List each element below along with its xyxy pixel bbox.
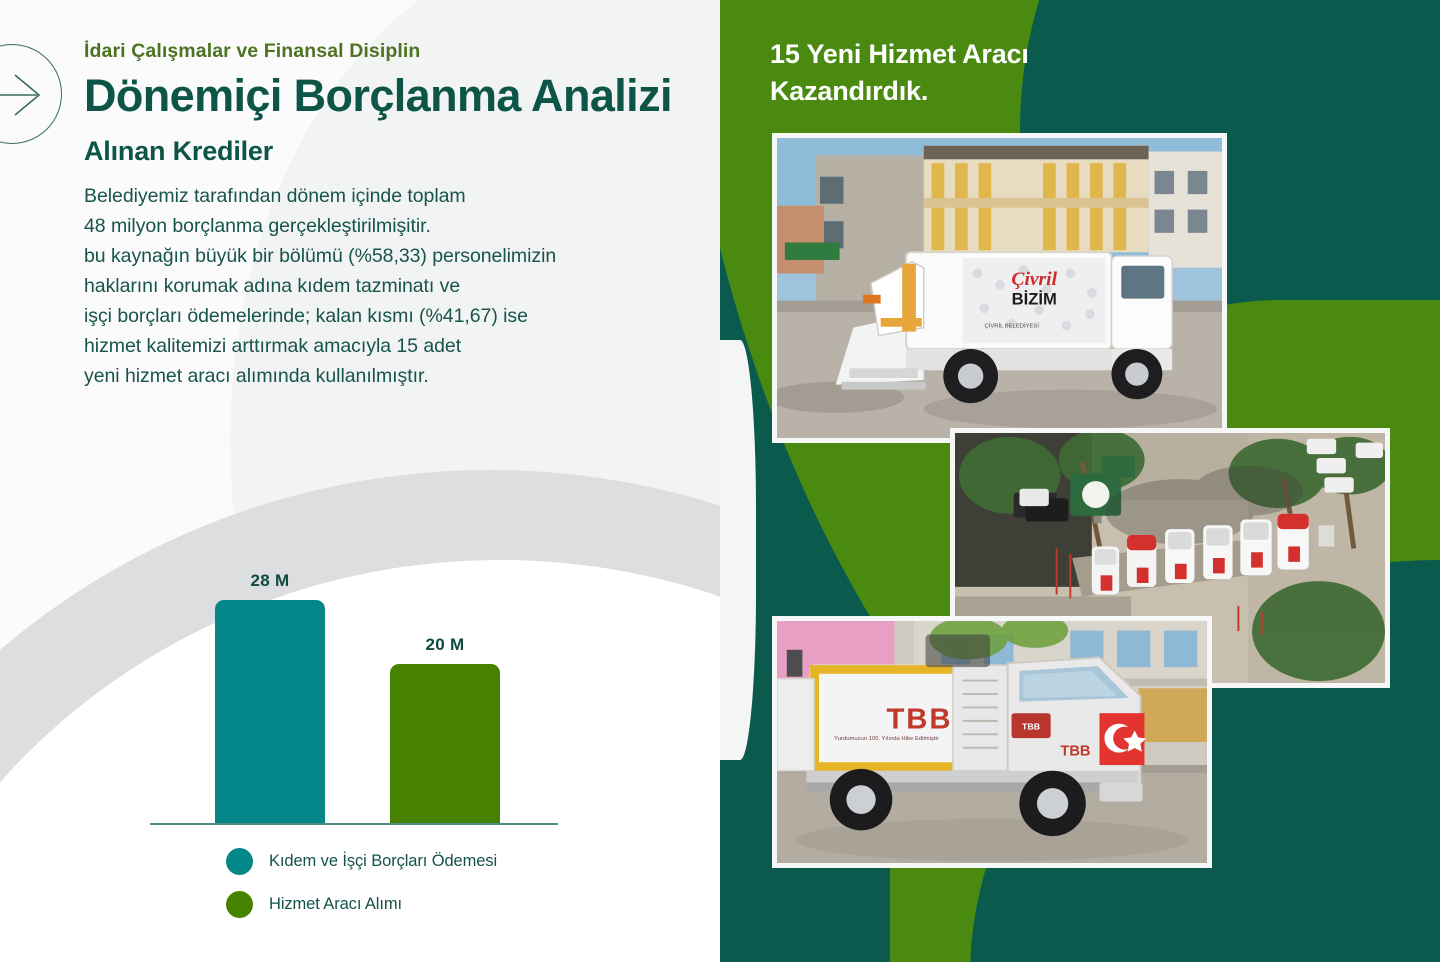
legend-item-2: Hizmet Aracı Alımı: [226, 891, 497, 918]
arrow-right-glyph: [0, 73, 45, 117]
svg-text:Çivril: Çivril: [1011, 269, 1057, 290]
bar-value-label: 28 M: [215, 571, 325, 591]
chart-plot-area: 28 M20 M: [150, 552, 570, 824]
chart-baseline-axis: [150, 823, 558, 825]
svg-text:ÇİVRİL BELEDİYESİ: ÇİVRİL BELEDİYESİ: [984, 323, 1039, 330]
legend-label: Hizmet Aracı Alımı: [269, 895, 402, 914]
left-text-block: İdari Çalışmalar ve Finansal Disiplin Dö…: [84, 40, 704, 391]
chart-legend: Kıdem ve İşçi Borçları ÖdemesiHizmet Ara…: [226, 848, 497, 934]
left-panel: İdari Çalışmalar ve Finansal Disiplin Dö…: [0, 0, 720, 962]
photo-truck-civril: Çivril BİZİM ÇİVRİL BELEDİYESİ: [772, 133, 1227, 443]
legend-item-1: Kıdem ve İşçi Borçları Ödemesi: [226, 848, 497, 875]
debt-bar-chart: 28 M20 M Kıdem ve İşçi Borçları ÖdemesiH…: [150, 552, 570, 842]
legend-label: Kıdem ve İşçi Borçları Ödemesi: [269, 852, 497, 871]
bar-2: [390, 664, 500, 824]
page-title: Dönemiçi Borçlanma Analizi: [84, 69, 704, 122]
legend-swatch: [226, 891, 253, 918]
svg-text:TBB: TBB: [1060, 744, 1090, 760]
svg-text:Yurdumuzun 100. Yılında Hibe E: Yurdumuzun 100. Yılında Hibe Edilmiştir: [834, 736, 939, 742]
photo-truck-civril-image: Çivril BİZİM ÇİVRİL BELEDİYESİ: [777, 138, 1222, 438]
photo-truck-tbb: TBB Yurdumuzun 100. Yılında Hibe Edilmiş…: [772, 616, 1212, 868]
bar-group-1: 28 M: [215, 552, 325, 824]
legend-swatch: [226, 848, 253, 875]
section-subtitle: Alınan Krediler: [84, 136, 704, 167]
bar-value-label: 20 M: [390, 635, 500, 655]
svg-text:TBB: TBB: [1022, 722, 1040, 732]
svg-text:TBB: TBB: [886, 704, 952, 736]
white-edge-accent: [720, 340, 756, 760]
bar-group-2: 20 M: [390, 552, 500, 824]
photo-truck-tbb-image: TBB Yurdumuzun 100. Yılında Hibe Edilmiş…: [777, 621, 1207, 863]
bar-1: [215, 600, 325, 824]
right-panel-title: 15 Yeni Hizmet Aracı Kazandırdık.: [770, 36, 1029, 110]
body-paragraph: Belediyemiz tarafından dönem içinde topl…: [84, 181, 704, 391]
right-panel: 15 Yeni Hizmet Aracı Kazandırdık.: [720, 0, 1440, 962]
eyebrow-label: İdari Çalışmalar ve Finansal Disiplin: [84, 40, 704, 63]
svg-text:BİZİM: BİZİM: [1012, 290, 1057, 309]
